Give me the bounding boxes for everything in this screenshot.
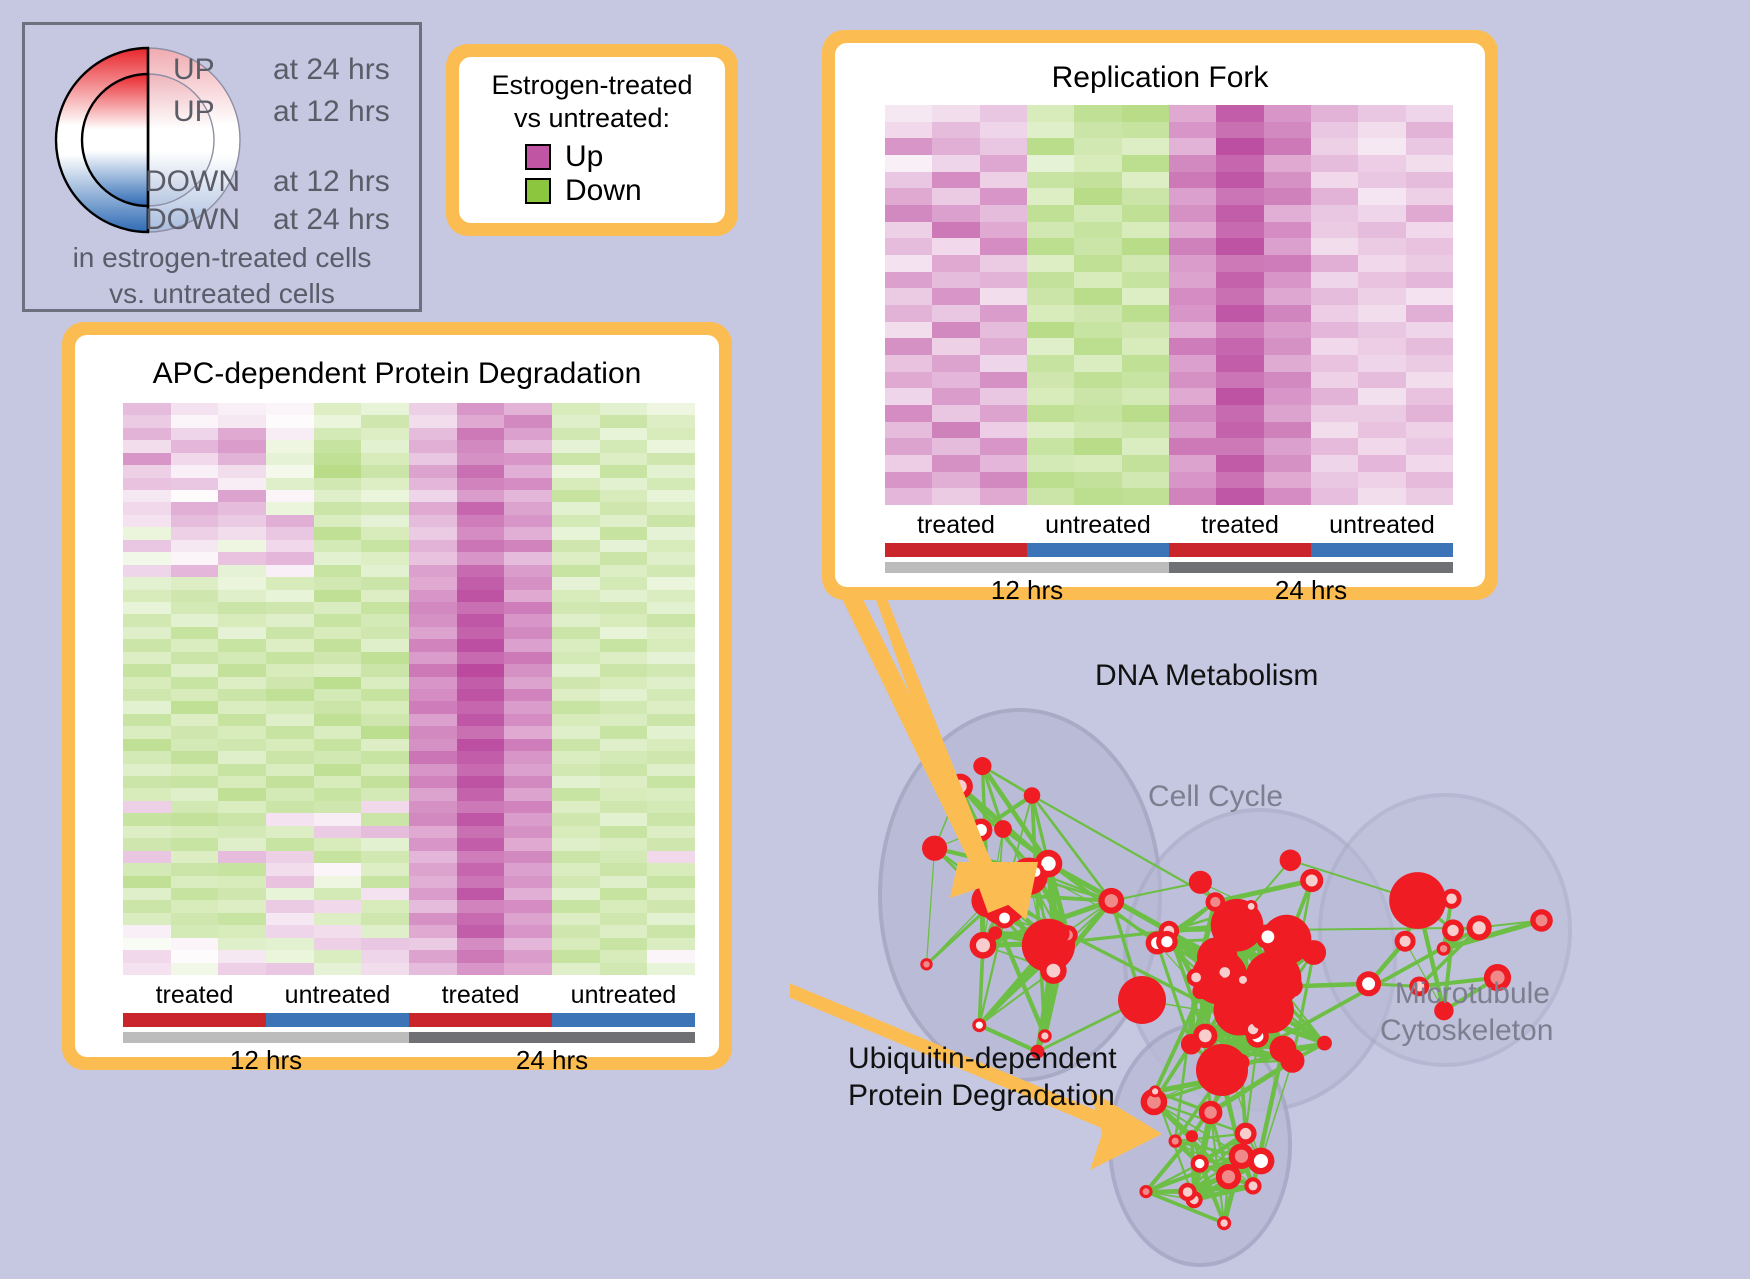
heatmap-cell bbox=[1122, 422, 1169, 439]
heatmap-cell bbox=[504, 876, 552, 888]
heatmap-cell bbox=[504, 739, 552, 751]
heatmap-cell bbox=[361, 415, 409, 427]
heatmap-cell bbox=[647, 415, 695, 427]
network-node[interactable] bbox=[1217, 1216, 1231, 1230]
heatmap-cell bbox=[171, 739, 219, 751]
apc-cond-label-1: untreated bbox=[266, 981, 409, 1013]
rep-condition-labels: treated untreated treated untreated bbox=[885, 511, 1453, 543]
heatmap-cell bbox=[314, 527, 362, 539]
heatmap-cell bbox=[218, 590, 266, 602]
heatmap-cell bbox=[504, 490, 552, 502]
network-node[interactable] bbox=[1300, 869, 1323, 892]
heatmap-cell bbox=[1169, 222, 1216, 239]
heatmap-cell bbox=[1264, 338, 1311, 355]
heatmap-cell bbox=[266, 540, 314, 552]
network-node[interactable] bbox=[1243, 980, 1263, 1000]
apc-condition-bar bbox=[123, 1013, 695, 1027]
network-node[interactable] bbox=[1389, 872, 1446, 929]
heatmap-cell bbox=[1216, 338, 1263, 355]
heatmap-cell bbox=[171, 900, 219, 912]
network-node[interactable] bbox=[1467, 915, 1492, 940]
heatmap-cell bbox=[1027, 205, 1074, 222]
heatmap-cell bbox=[885, 222, 932, 239]
heatmap-cell bbox=[266, 714, 314, 726]
heatmap-cell bbox=[1406, 155, 1453, 172]
apc-time-labels: 12 hrs 24 hrs bbox=[123, 1045, 695, 1076]
network-node[interactable] bbox=[1169, 1134, 1182, 1147]
network-node[interactable] bbox=[1040, 957, 1067, 984]
heatmap-cell bbox=[218, 876, 266, 888]
heatmap-cell bbox=[600, 876, 648, 888]
network-node[interactable] bbox=[1206, 892, 1226, 912]
heatmap-cell bbox=[409, 664, 457, 676]
rep-time-bar bbox=[885, 562, 1453, 573]
heatmap-cell bbox=[314, 963, 362, 975]
heatmap-cell bbox=[457, 664, 505, 676]
heatmap-cell bbox=[932, 105, 979, 122]
heatmap-cell bbox=[552, 913, 600, 925]
heatmap-cell bbox=[123, 689, 171, 701]
heatmap-cell bbox=[1216, 188, 1263, 205]
heatmap-cell bbox=[1027, 272, 1074, 289]
heatmap-cell bbox=[123, 925, 171, 937]
network-node[interactable] bbox=[1280, 850, 1302, 872]
heatmap-cell bbox=[171, 490, 219, 502]
network-node[interactable] bbox=[1178, 1183, 1196, 1201]
heatmap-cell bbox=[1027, 488, 1074, 505]
heatmap-cell bbox=[504, 776, 552, 788]
heatmap-cell bbox=[552, 838, 600, 850]
heatmap-cell bbox=[123, 900, 171, 912]
heatmap-cell bbox=[1169, 405, 1216, 422]
heatmap-cell bbox=[600, 863, 648, 875]
heatmap-cell bbox=[504, 913, 552, 925]
heatmap-cell bbox=[600, 838, 648, 850]
heatmap-cell bbox=[1264, 138, 1311, 155]
heatmap-cell bbox=[1264, 105, 1311, 122]
network-node[interactable] bbox=[1156, 931, 1178, 953]
heatmap-cell bbox=[600, 652, 648, 664]
heatmap-cell bbox=[218, 838, 266, 850]
legend-title-line2: vs untreated: bbox=[473, 102, 711, 135]
heatmap-cell bbox=[552, 714, 600, 726]
heatmap-cell bbox=[123, 764, 171, 776]
heatmap-cell bbox=[266, 913, 314, 925]
heatmap-cell bbox=[171, 701, 219, 713]
network-node[interactable] bbox=[1186, 1130, 1198, 1142]
heatmap-cell bbox=[932, 355, 979, 372]
heatmap-cell bbox=[600, 639, 648, 651]
heatmap-cell bbox=[504, 838, 552, 850]
heatmap-cell bbox=[1216, 138, 1263, 155]
heatmap-cell bbox=[1311, 222, 1358, 239]
heatmap-cell bbox=[1311, 155, 1358, 172]
heatmap-cell bbox=[932, 388, 979, 405]
heatmap-cell bbox=[1406, 355, 1453, 372]
heatmap-cell bbox=[457, 726, 505, 738]
heatmap-cell bbox=[314, 838, 362, 850]
network-node[interactable] bbox=[1263, 979, 1276, 992]
network-node[interactable] bbox=[1235, 1123, 1257, 1145]
network-node[interactable] bbox=[922, 836, 947, 861]
heatmap-cell bbox=[1027, 288, 1074, 305]
heatmap-cell bbox=[1216, 105, 1263, 122]
rep-cond-bar-treated-24 bbox=[1169, 543, 1311, 557]
heatmap-cell bbox=[123, 577, 171, 589]
heatmap-cell bbox=[409, 403, 457, 415]
heatmap-cell bbox=[1074, 222, 1121, 239]
network-node[interactable] bbox=[994, 908, 1015, 929]
heatmap-cell bbox=[504, 950, 552, 962]
heatmap-cell bbox=[457, 900, 505, 912]
heatmap-cell bbox=[552, 428, 600, 440]
heatmap-cell bbox=[1311, 472, 1358, 489]
heatmap-cell bbox=[885, 188, 932, 205]
rep-cond-bar-untreated-24 bbox=[1311, 543, 1453, 557]
heatmap-cell bbox=[1358, 205, 1405, 222]
heatmap-cell bbox=[457, 851, 505, 863]
legend-items: Up Down bbox=[473, 141, 711, 207]
heatmap-cell bbox=[600, 900, 648, 912]
heatmap-cell bbox=[1358, 155, 1405, 172]
heatmap-cell bbox=[932, 255, 979, 272]
heatmap-cell bbox=[171, 788, 219, 800]
heatmap-cell bbox=[314, 689, 362, 701]
network-node[interactable] bbox=[1281, 976, 1303, 998]
heatmap-cell bbox=[361, 776, 409, 788]
heatmap-cell bbox=[1264, 172, 1311, 189]
heatmap-cell bbox=[600, 813, 648, 825]
heatmap-cell bbox=[409, 739, 457, 751]
heatmap-cell bbox=[885, 138, 932, 155]
heatmap-cell bbox=[266, 826, 314, 838]
heatmap-cell bbox=[314, 652, 362, 664]
apc-cond-label-3: untreated bbox=[552, 981, 695, 1013]
heatmap-cell bbox=[409, 577, 457, 589]
heatmap-cell bbox=[123, 813, 171, 825]
heatmap-cell bbox=[1074, 205, 1121, 222]
network-node[interactable] bbox=[1191, 1155, 1209, 1173]
heatmap-cell bbox=[218, 801, 266, 813]
heatmap-cell bbox=[1169, 372, 1216, 389]
heatmap-cell bbox=[647, 440, 695, 452]
network-node[interactable] bbox=[1051, 924, 1070, 943]
heatmap-cell bbox=[1169, 388, 1216, 405]
heatmap-cell bbox=[266, 813, 314, 825]
heatmap-cell bbox=[504, 788, 552, 800]
heatmap-cell bbox=[885, 455, 932, 472]
heatmap-cell bbox=[1358, 122, 1405, 139]
network-node[interactable] bbox=[1395, 931, 1416, 952]
heatmap-cell bbox=[171, 826, 219, 838]
heatmap-cell bbox=[123, 739, 171, 751]
heatmap-cell bbox=[218, 639, 266, 651]
network-node[interactable] bbox=[1187, 968, 1206, 987]
heatmap-cell bbox=[409, 900, 457, 912]
legend-label-down: Down bbox=[565, 175, 642, 207]
heatmap-cell bbox=[1122, 272, 1169, 289]
heatmap-cell bbox=[171, 776, 219, 788]
heatmap-cell bbox=[314, 590, 362, 602]
heatmap-cell bbox=[314, 677, 362, 689]
heatmap-cell bbox=[980, 188, 1027, 205]
heatmap-cell bbox=[266, 925, 314, 937]
heatmap-cell bbox=[1122, 322, 1169, 339]
heatmap-cell bbox=[1406, 338, 1453, 355]
network-node[interactable] bbox=[1199, 1101, 1223, 1125]
heatmap-cell bbox=[171, 938, 219, 950]
heatmap-cell bbox=[1216, 172, 1263, 189]
heatmap-cell bbox=[266, 801, 314, 813]
heatmap-cell bbox=[361, 950, 409, 962]
heatmap-cell bbox=[266, 465, 314, 477]
network-node[interactable] bbox=[1317, 1036, 1332, 1051]
heatmap-cell bbox=[409, 540, 457, 552]
heatmap-cell bbox=[504, 900, 552, 912]
heatmap-cell bbox=[552, 552, 600, 564]
network-node[interactable] bbox=[1189, 871, 1212, 894]
heatmap-cell bbox=[980, 288, 1027, 305]
heatmap-cell bbox=[314, 428, 362, 440]
heatmap-cell bbox=[218, 963, 266, 975]
heatmap-cell bbox=[1169, 188, 1216, 205]
heatmap-cell bbox=[1216, 372, 1263, 389]
heatmap-cell bbox=[647, 838, 695, 850]
heatmap-cell bbox=[361, 876, 409, 888]
heatmap-cell bbox=[123, 478, 171, 490]
heatmap-cell bbox=[1406, 305, 1453, 322]
heatmap-cell bbox=[600, 764, 648, 776]
heatmap-cell bbox=[1264, 405, 1311, 422]
heatmap-cell bbox=[1406, 238, 1453, 255]
heatmap-cell bbox=[457, 689, 505, 701]
heatmap-cell bbox=[409, 465, 457, 477]
heatmap-cell bbox=[314, 813, 362, 825]
network-node[interactable] bbox=[1270, 1036, 1297, 1063]
network-node[interactable] bbox=[1252, 1012, 1269, 1029]
heatmap-cell bbox=[457, 950, 505, 962]
apc-degradation-title: APC-dependent Protein Degradation bbox=[75, 357, 719, 391]
heatmap-cell bbox=[600, 950, 648, 962]
heatmap-cell bbox=[647, 913, 695, 925]
heatmap-cell bbox=[647, 677, 695, 689]
heatmap-cell bbox=[1169, 472, 1216, 489]
heatmap-cell bbox=[552, 900, 600, 912]
heatmap-cell bbox=[552, 701, 600, 713]
heatmap-cell bbox=[600, 664, 648, 676]
heatmap-cell bbox=[171, 714, 219, 726]
heatmap-cell bbox=[218, 863, 266, 875]
key-word-down-24: DOWN bbox=[145, 203, 240, 237]
network-node[interactable] bbox=[1442, 919, 1464, 941]
heatmap-cell bbox=[218, 813, 266, 825]
rep-time-bar-24 bbox=[1169, 562, 1453, 573]
heatmap-cell bbox=[171, 677, 219, 689]
network-node[interactable] bbox=[1196, 1044, 1248, 1096]
network-node[interactable] bbox=[1229, 1143, 1255, 1169]
heatmap-cell bbox=[1358, 355, 1405, 372]
network-node[interactable] bbox=[1118, 976, 1166, 1024]
heatmap-cell bbox=[409, 428, 457, 440]
heatmap-cell bbox=[1406, 122, 1453, 139]
network-node[interactable] bbox=[973, 757, 991, 775]
heatmap-cell bbox=[457, 863, 505, 875]
apc-cond-label-2: treated bbox=[409, 981, 552, 1013]
heatmap-cell bbox=[1358, 388, 1405, 405]
rep-cond-label-1: untreated bbox=[1027, 511, 1169, 543]
heatmap-cell bbox=[932, 338, 979, 355]
heatmap-cell bbox=[1122, 338, 1169, 355]
heatmap-cell bbox=[1264, 438, 1311, 455]
heatmap-cell bbox=[1311, 455, 1358, 472]
network-node[interactable] bbox=[1245, 900, 1258, 913]
heatmap-cell bbox=[171, 627, 219, 639]
network-node[interactable] bbox=[989, 926, 1003, 940]
heatmap-cell bbox=[1264, 188, 1311, 205]
heatmap-cell bbox=[932, 372, 979, 389]
heatmap-cell bbox=[361, 527, 409, 539]
rep-cond-label-0: treated bbox=[885, 511, 1027, 543]
heatmap-cell bbox=[1358, 422, 1405, 439]
heatmap-cell bbox=[123, 527, 171, 539]
heatmap-cell bbox=[266, 428, 314, 440]
network-node[interactable] bbox=[920, 958, 932, 970]
heatmap-cell bbox=[1169, 272, 1216, 289]
network-node[interactable] bbox=[1356, 971, 1381, 996]
heatmap-cell bbox=[1264, 322, 1311, 339]
heatmap-cell bbox=[552, 602, 600, 614]
heatmap-cell bbox=[123, 403, 171, 415]
heatmap-cell bbox=[218, 478, 266, 490]
heatmap-cell bbox=[647, 540, 695, 552]
heatmap-cell bbox=[171, 590, 219, 602]
heatmap-cell bbox=[361, 478, 409, 490]
heatmap-cell bbox=[457, 614, 505, 626]
heatmap-cell bbox=[171, 403, 219, 415]
heatmap-cell bbox=[266, 490, 314, 502]
network-node[interactable] bbox=[1024, 787, 1041, 804]
heatmap-cell bbox=[457, 478, 505, 490]
heatmap-cell bbox=[314, 888, 362, 900]
swatch-down-icon bbox=[525, 178, 551, 204]
heatmap-cell bbox=[1074, 338, 1121, 355]
heatmap-cell bbox=[980, 455, 1027, 472]
heatmap-cell bbox=[266, 938, 314, 950]
network-node[interactable] bbox=[1437, 942, 1451, 956]
cluster-label-ubiquitin-degradation: Ubiquitin-dependent Protein Degradation bbox=[848, 1040, 1117, 1114]
heatmap-cell bbox=[457, 577, 505, 589]
heatmap-cell bbox=[1311, 338, 1358, 355]
heatmap-cell bbox=[504, 428, 552, 440]
heatmap-cell bbox=[409, 502, 457, 514]
heatmap-cell bbox=[314, 540, 362, 552]
heatmap-cell bbox=[1169, 422, 1216, 439]
heatmap-cell bbox=[1169, 138, 1216, 155]
heatmap-cell bbox=[314, 764, 362, 776]
network-node[interactable] bbox=[972, 1018, 986, 1032]
heatmap-cell bbox=[314, 851, 362, 863]
heatmap-cell bbox=[123, 838, 171, 850]
heatmap-cell bbox=[361, 913, 409, 925]
heatmap-cell bbox=[885, 255, 932, 272]
heatmap-cell bbox=[1074, 305, 1121, 322]
heatmap-cell bbox=[266, 739, 314, 751]
heatmap-cell bbox=[1074, 188, 1121, 205]
heatmap-cell bbox=[218, 776, 266, 788]
heatmap-cell bbox=[1027, 155, 1074, 172]
heatmap-cell bbox=[1406, 288, 1453, 305]
heatmap-cell bbox=[932, 405, 979, 422]
heatmap-cell bbox=[1358, 105, 1405, 122]
heatmap-cell bbox=[171, 453, 219, 465]
network-node[interactable] bbox=[1442, 889, 1462, 909]
heatmap-cell bbox=[314, 950, 362, 962]
heatmap-cell bbox=[1216, 288, 1263, 305]
network-node[interactable] bbox=[1098, 888, 1124, 914]
heatmap-cell bbox=[980, 472, 1027, 489]
heatmap-cell bbox=[171, 838, 219, 850]
heatmap-cell bbox=[1406, 372, 1453, 389]
network-node[interactable] bbox=[1193, 1024, 1217, 1048]
network-node[interactable] bbox=[1244, 1177, 1261, 1194]
heatmap-cell bbox=[361, 627, 409, 639]
heatmap-cell bbox=[123, 863, 171, 875]
heatmap-cell bbox=[457, 627, 505, 639]
network-node[interactable] bbox=[1139, 1185, 1152, 1198]
heatmap-cell bbox=[504, 527, 552, 539]
heatmap-cell bbox=[600, 577, 648, 589]
network-node[interactable] bbox=[1530, 909, 1553, 932]
heatmap-cell bbox=[885, 305, 932, 322]
heatmap-cell bbox=[504, 440, 552, 452]
heatmap-cell bbox=[314, 751, 362, 763]
heatmap-cell bbox=[600, 726, 648, 738]
network-node[interactable] bbox=[1149, 1085, 1161, 1097]
heatmap-cell bbox=[409, 515, 457, 527]
heatmap-cell bbox=[885, 205, 932, 222]
heatmap-cell bbox=[1311, 288, 1358, 305]
heatmap-cell bbox=[314, 701, 362, 713]
network-node[interactable] bbox=[994, 820, 1012, 838]
key-time-up-12: at 12 hrs bbox=[273, 95, 390, 129]
heatmap-cell bbox=[1027, 238, 1074, 255]
heatmap-cell bbox=[171, 851, 219, 863]
heatmap-cell bbox=[218, 950, 266, 962]
heatmap-cell bbox=[932, 272, 979, 289]
heatmap-cell bbox=[409, 490, 457, 502]
heatmap-cell bbox=[457, 515, 505, 527]
heatmap-cell bbox=[457, 963, 505, 975]
heatmap-cell bbox=[123, 627, 171, 639]
heatmap-cell bbox=[361, 453, 409, 465]
heatmap-cell bbox=[647, 689, 695, 701]
network-node[interactable] bbox=[1256, 924, 1281, 949]
heatmap-cell bbox=[218, 900, 266, 912]
heatmap-cell bbox=[266, 614, 314, 626]
heatmap-cell bbox=[647, 664, 695, 676]
legend-title: Estrogen-treated vs untreated: bbox=[473, 69, 711, 135]
heatmap-cell bbox=[409, 565, 457, 577]
heatmap-cell bbox=[361, 440, 409, 452]
heatmap-cell bbox=[1311, 488, 1358, 505]
heatmap-cell bbox=[123, 428, 171, 440]
replication-fork-title: Replication Fork bbox=[835, 61, 1485, 95]
heatmap-cell bbox=[885, 388, 932, 405]
network-node[interactable] bbox=[1301, 940, 1326, 965]
heatmap-cell bbox=[1074, 155, 1121, 172]
heatmap-cell bbox=[552, 627, 600, 639]
heatmap-cell bbox=[600, 888, 648, 900]
